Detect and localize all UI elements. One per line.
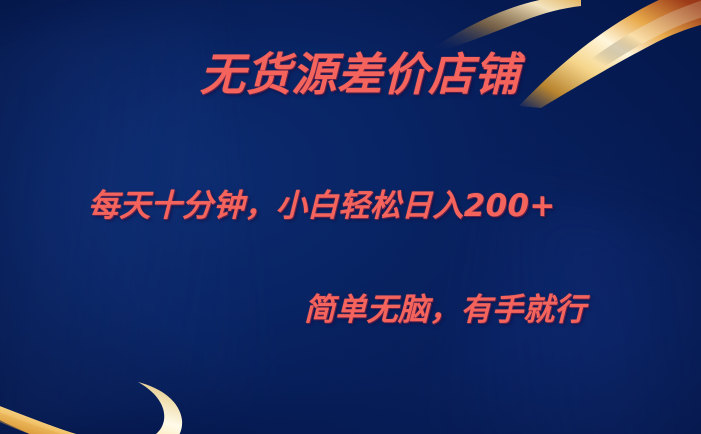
poster-subtitle-primary: 每天十分钟，小白轻松日入200+ (88, 188, 556, 225)
poster-title: 无货源差价店铺 (200, 50, 520, 100)
poster-subtitle-secondary: 简单无脑，有手就行 (304, 292, 586, 329)
promo-poster: 无货源差价店铺 每天十分钟，小白轻松日入200+ 简单无脑，有手就行 (0, 0, 701, 434)
